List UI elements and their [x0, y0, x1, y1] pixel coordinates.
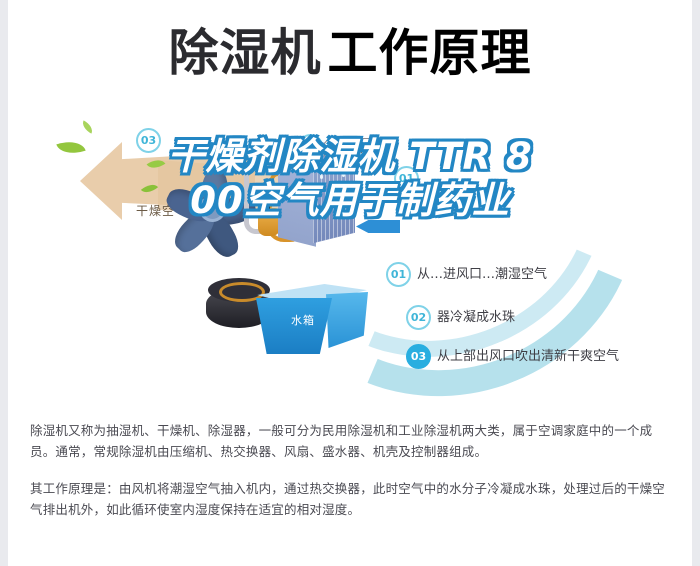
- condensation-droplet-icon: [348, 196, 351, 201]
- article-card: 除湿机工作原理 干燥空气: [8, 0, 692, 566]
- page-root: 除湿机工作原理 干燥空气: [0, 0, 700, 566]
- dehumidifier-principle-diagram: 干燥空气: [8, 112, 692, 407]
- condensation-droplet-icon: [342, 172, 345, 177]
- page-title: 除湿机工作原理: [8, 22, 692, 84]
- fan-hub-icon: [199, 195, 226, 222]
- humid-air-label: 潮湿空气: [406, 200, 462, 219]
- step-line-text-02: 器冷凝成水珠: [437, 310, 515, 325]
- page-title-part-1: 除湿机: [169, 22, 322, 84]
- page-title-part-2: 工作原理: [328, 22, 532, 84]
- leaf-icon: [56, 136, 85, 158]
- heat-exchanger-side-icon: [278, 153, 316, 246]
- body-paragraph-1: 除湿机又称为抽湿机、干燥机、除湿器，一般可分为民用除湿机和工业除湿机两大类，属于…: [30, 420, 674, 462]
- condensation-droplet-icon: [332, 186, 335, 191]
- step-badge-02: 02: [298, 134, 323, 159]
- step-line-text-03: 从上部出风口吹出清新干爽空气: [437, 349, 619, 364]
- step-line-02: 02器冷凝成水珠: [406, 305, 515, 330]
- step-line-03: 03从上部出风口吹出清新干爽空气: [406, 344, 619, 369]
- step-badge-03: 03: [136, 128, 161, 153]
- leaf-icon: [80, 120, 95, 133]
- step-line-badge-01: 01: [386, 262, 411, 287]
- water-tank-label: 水箱: [291, 312, 315, 328]
- callout-tail-icon: [341, 156, 353, 166]
- step-line-text-01: 从…进风口…潮湿空气: [417, 267, 547, 282]
- step-badge-01: 01: [394, 166, 419, 191]
- body-paragraph-2: 其工作原理是：由风机将潮湿空气抽入机内，通过热交换器，此时空气中的水分子冷凝成水…: [30, 478, 674, 520]
- flow-arrow-stem: [266, 204, 270, 218]
- step-line-01: 01从…进风口…潮湿空气: [386, 262, 547, 287]
- article-body: 除湿机又称为抽湿机、干燥机、除湿器，一般可分为民用除湿机和工业除湿机两大类，属于…: [30, 420, 674, 520]
- step-line-badge-02: 02: [406, 305, 431, 330]
- condensation-droplet-icon: [338, 212, 341, 217]
- heat-exchanger-callout: 热交换器: [323, 138, 383, 161]
- condensation-droplet-icon: [324, 204, 327, 209]
- condensation-droplet-icon: [320, 174, 323, 179]
- step-line-badge-03: 03: [406, 344, 431, 369]
- flow-arrow-up-icon: [263, 196, 273, 205]
